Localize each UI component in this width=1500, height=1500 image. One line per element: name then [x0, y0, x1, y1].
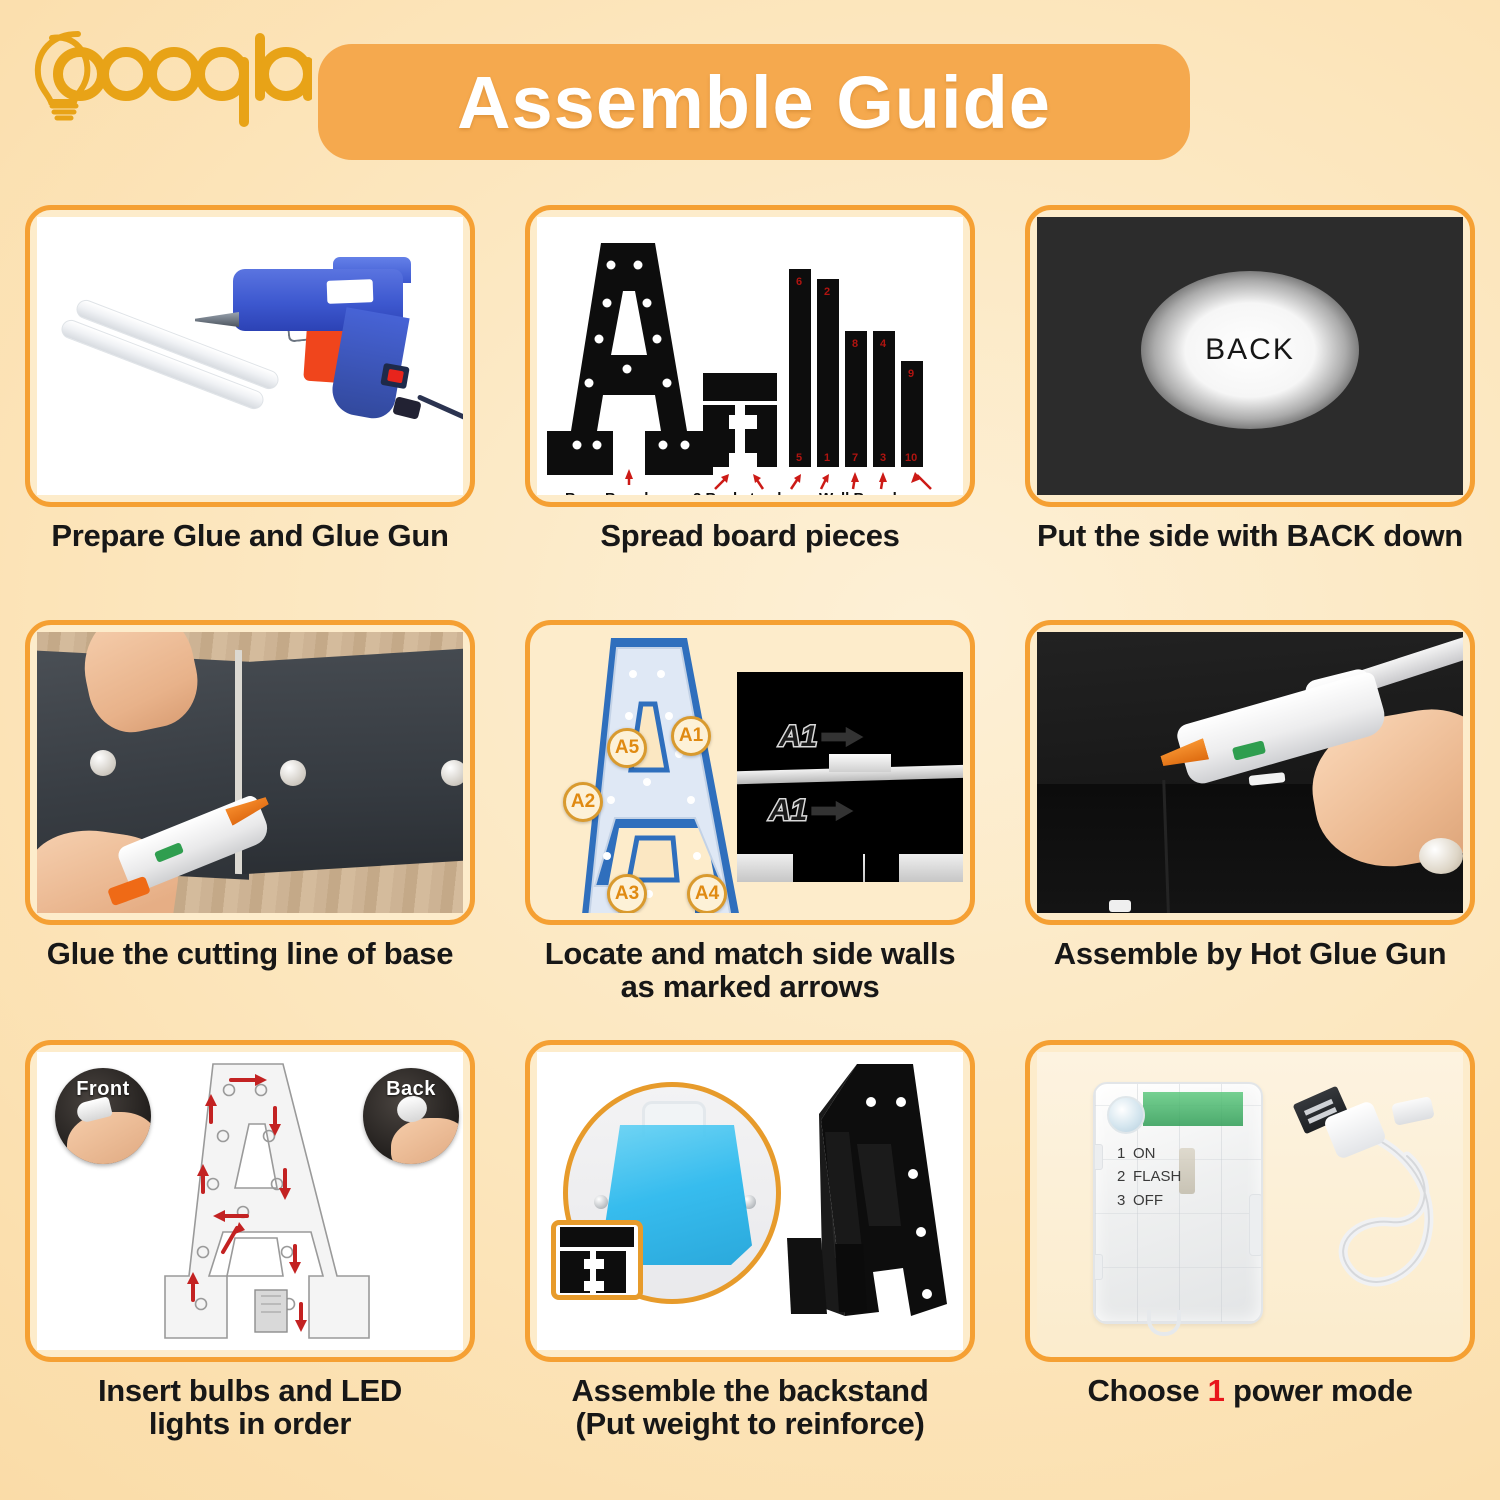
step-caption-7-line2: lights in order	[15, 1407, 485, 1440]
front-inset-label: Front	[55, 1078, 151, 1101]
letter-a-3d-backstand	[761, 1058, 957, 1340]
circuit-board	[1143, 1092, 1243, 1126]
step-card-6: Assemble by Hot Glue Gun	[1000, 620, 1500, 1040]
step-card-9: 1ON 2FLASH 3OFF	[1000, 1040, 1500, 1500]
letter-a-with-walls: A5 A1 A2 A3 A4	[545, 632, 755, 913]
hand	[67, 1112, 151, 1164]
glue-gun-cord-icon	[417, 394, 463, 425]
base-board-shape	[547, 243, 713, 475]
power-mode-number-1: 1	[1117, 1142, 1133, 1165]
wall-board-shapes	[789, 269, 923, 467]
steps-grid: Prepare Glue and Glue Gun	[0, 205, 1500, 1500]
a1-marking-bottom: A1	[769, 794, 853, 828]
wall-tab	[829, 754, 891, 772]
wall-badge-a5: A5	[607, 728, 647, 768]
svg-text:5: 5	[796, 452, 802, 464]
glue-residue	[1109, 900, 1131, 912]
screw-icon	[594, 1195, 608, 1209]
step-card-3: BACK Put the side with BACK down	[1000, 205, 1500, 620]
glue-gun-power-switch-icon	[380, 363, 409, 389]
power-mode-photo: 1ON 2FLASH 3OFF	[1037, 1052, 1463, 1350]
wall-badge-a3: A3	[607, 874, 647, 913]
hand	[391, 1118, 459, 1164]
step-caption-5-line2: as marked arrows	[515, 970, 985, 1003]
power-mode-option-1: 1ON	[1117, 1142, 1237, 1165]
step-image-frame-6	[1025, 620, 1475, 925]
board-pieces-diagram: 62 849 51 7310	[537, 217, 963, 495]
svg-text:9: 9	[908, 368, 914, 380]
glow-spot: BACK	[1141, 271, 1359, 429]
step-caption-8: Assemble the backstand (Put weight to re…	[515, 1374, 985, 1440]
svg-text:1: 1	[824, 452, 830, 464]
arrow-right-icon	[821, 725, 863, 749]
backstand-shapes	[703, 373, 777, 467]
step-image-frame-3: BACK	[1025, 205, 1475, 507]
step-caption-1: Prepare Glue and Glue Gun	[15, 519, 485, 552]
lightbulb-icon	[22, 22, 312, 132]
step-caption-9-suffix: power mode	[1225, 1373, 1413, 1408]
gluing-base-photo	[37, 632, 463, 913]
wall-badge-a4: A4	[687, 874, 727, 913]
power-mode-number-3: 3	[1117, 1189, 1133, 1212]
svg-text:8: 8	[852, 338, 858, 350]
lower-notch	[793, 848, 863, 882]
step-image-frame-7: Front Back	[25, 1040, 475, 1362]
wall-boards-label: Wall Boards	[819, 490, 905, 495]
step-caption-3: Put the side with BACK down	[1015, 519, 1485, 552]
bulb-cap	[1419, 838, 1463, 874]
lower-notch	[865, 854, 899, 882]
title-banner: Assemble Guide	[318, 44, 1190, 160]
box-latch	[1249, 1194, 1263, 1256]
box-tab	[1093, 1254, 1103, 1280]
step-caption-6: Assemble by Hot Glue Gun	[1015, 937, 1485, 970]
side-wall-matching-diagram: A5 A1 A2 A3 A4 A1 A1	[537, 632, 963, 913]
backstand-piece-inset	[551, 1220, 643, 1300]
mode-dial-icon[interactable]	[1107, 1096, 1145, 1134]
step-caption-9-prefix: Choose	[1087, 1373, 1207, 1408]
step-image-frame-5: A5 A1 A2 A3 A4 A1 A1	[525, 620, 975, 925]
svg-text:7: 7	[852, 452, 858, 464]
box-tab	[1093, 1144, 1103, 1170]
step-image-frame-8	[525, 1040, 975, 1362]
svg-text:2: 2	[824, 286, 830, 298]
svg-text:10: 10	[905, 452, 917, 464]
power-mode-label-1: ON	[1133, 1145, 1156, 1162]
board-hole	[90, 750, 116, 776]
step-caption-8-line2: (Put weight to reinforce)	[515, 1407, 985, 1440]
usb-cable	[1287, 1086, 1463, 1316]
svg-text:4: 4	[880, 338, 887, 350]
step-image-frame-1	[25, 205, 475, 507]
step-card-5: A5 A1 A2 A3 A4 A1 A1	[500, 620, 1000, 1040]
power-mode-label-2: FLASH	[1133, 1168, 1181, 1185]
a1-marking-top: A1	[779, 720, 863, 754]
front-inset-photo: Front	[55, 1068, 151, 1164]
power-mode-option-3: 3OFF	[1117, 1189, 1237, 1212]
backstand-assembly-diagram	[537, 1052, 963, 1350]
back-marking-text: BACK	[1205, 333, 1295, 367]
glue-gun-cord-base-icon	[392, 396, 422, 420]
back-marking-illustration: BACK	[1037, 217, 1463, 495]
step-card-1: Prepare Glue and Glue Gun	[0, 205, 500, 620]
page-title: Assemble Guide	[457, 60, 1051, 145]
step-image-frame-4	[25, 620, 475, 925]
page-header: Assemble Guide	[0, 0, 1500, 205]
wall-badge-a2: A2	[563, 782, 603, 822]
glue-gun-nozzle-icon	[195, 312, 239, 327]
back-inset-photo: Back	[363, 1068, 459, 1164]
step-caption-5-line1: Locate and match side walls	[515, 937, 985, 970]
svg-text:3: 3	[880, 452, 886, 464]
a1-label-top: A1	[779, 720, 817, 754]
board-hole	[280, 760, 306, 786]
wall-badge-a1: A1	[671, 716, 711, 756]
step-caption-8-line1: Assemble the backstand	[515, 1374, 985, 1407]
svg-text:6: 6	[796, 276, 802, 288]
step-caption-2: Spread board pieces	[515, 519, 985, 552]
battery-box: 1ON 2FLASH 3OFF	[1093, 1082, 1263, 1324]
step-card-7: Front Back Insert bulbs and LED lights i…	[0, 1040, 500, 1500]
step-card-8: Assemble the backstand (Put weight to re…	[500, 1040, 1000, 1500]
box-hanging-loop	[1147, 1310, 1181, 1336]
step-image-frame-9: 1ON 2FLASH 3OFF	[1025, 1040, 1475, 1362]
brand-logo	[22, 22, 312, 132]
step-card-4: Glue the cutting line of base	[0, 620, 500, 1040]
step-card-2: 62 849 51 7310	[500, 205, 1000, 620]
power-mode-number-2: 2	[1117, 1165, 1133, 1188]
power-mode-list: 1ON 2FLASH 3OFF	[1117, 1142, 1237, 1212]
glue-gun-illustration	[37, 217, 463, 495]
step-caption-5: Locate and match side walls as marked ar…	[515, 937, 985, 1003]
back-inset-label: Back	[363, 1078, 459, 1101]
led-insertion-diagram: Front Back	[37, 1052, 463, 1350]
base-board-label: Base Board	[565, 490, 648, 495]
power-mode-label-3: OFF	[1133, 1192, 1163, 1209]
step-image-frame-2: 62 849 51 7310	[525, 205, 975, 507]
board-hole	[441, 760, 463, 786]
backstands-label: 2 Backstands	[693, 490, 790, 495]
a1-label-bottom: A1	[769, 794, 807, 828]
step-caption-7-line1: Insert bulbs and LED	[15, 1374, 485, 1407]
power-mode-option-2: 2FLASH	[1117, 1165, 1237, 1188]
step-caption-4: Glue the cutting line of base	[15, 937, 485, 970]
right-board	[242, 646, 463, 875]
step-caption-7: Insert bulbs and LED lights in order	[15, 1374, 485, 1440]
arrow-right-icon	[811, 799, 853, 823]
step-caption-9: Choose 1 power mode	[1015, 1374, 1485, 1407]
hot-glue-assembly-photo	[1037, 632, 1463, 913]
glue-gun-label-icon	[327, 279, 374, 304]
board-crease	[1162, 780, 1171, 913]
wall-marking-inset: A1 A1	[737, 672, 963, 882]
step-caption-9-highlight: 1	[1208, 1373, 1225, 1408]
